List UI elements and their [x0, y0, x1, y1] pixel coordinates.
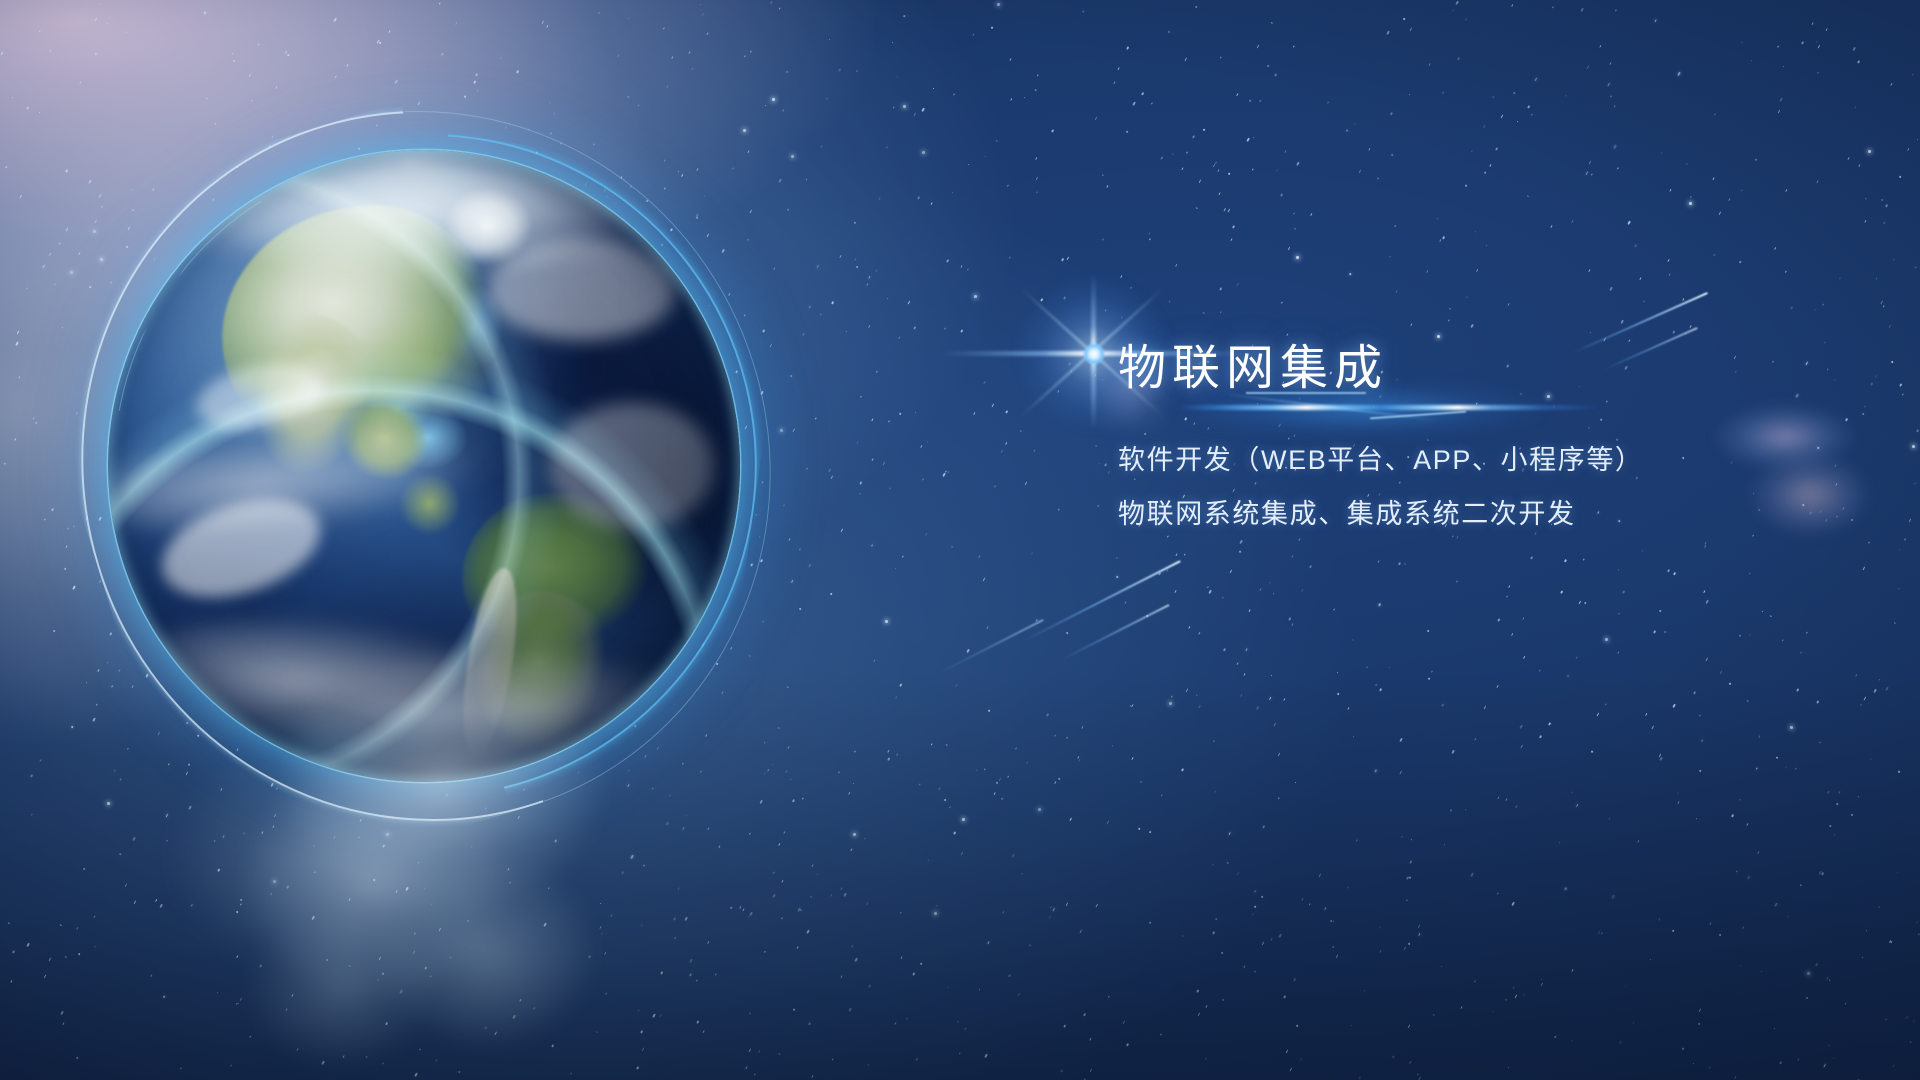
star: [1222, 596, 1224, 599]
star: [1292, 623, 1295, 626]
star: [1037, 74, 1039, 76]
star: [1729, 683, 1731, 685]
star: [830, 476, 833, 480]
star: [1126, 131, 1128, 133]
star: [810, 896, 812, 899]
star-bright: [1169, 702, 1172, 705]
star: [895, 568, 897, 570]
star: [533, 1008, 535, 1011]
star: [1447, 319, 1449, 321]
star: [1215, 161, 1217, 164]
star: [1719, 670, 1722, 674]
star: [1223, 649, 1226, 652]
star: [922, 478, 924, 480]
star: [1025, 482, 1028, 486]
star: [1236, 283, 1239, 287]
star: [1621, 320, 1624, 324]
star: [1794, 767, 1796, 770]
star: [893, 107, 895, 109]
star: [1471, 150, 1473, 152]
star: [1747, 876, 1750, 879]
star: [1852, 47, 1855, 51]
star: [1122, 1021, 1125, 1025]
star: [1641, 548, 1644, 552]
star: [1005, 410, 1008, 413]
star: [65, 227, 68, 231]
star: [10, 980, 12, 983]
star: [1506, 798, 1508, 801]
star: [1827, 977, 1829, 980]
star: [895, 696, 898, 699]
star: [1865, 197, 1867, 200]
star: [1283, 995, 1286, 998]
star: [1815, 41, 1817, 43]
star: [1083, 1013, 1086, 1016]
star: [1890, 83, 1892, 86]
star: [953, 831, 956, 835]
star: [1267, 64, 1269, 67]
star: [570, 1072, 572, 1074]
star: [1035, 177, 1038, 181]
star: [1171, 152, 1173, 154]
star: [944, 327, 946, 329]
star: [1239, 551, 1241, 553]
star: [1591, 751, 1593, 753]
star: [126, 32, 128, 34]
star: [1347, 707, 1349, 710]
star: [630, 855, 633, 859]
star: [1870, 381, 1873, 385]
star-bright: [962, 818, 965, 821]
star: [1617, 168, 1619, 170]
star: [1228, 209, 1231, 213]
star: [1838, 791, 1840, 794]
star: [1825, 28, 1827, 31]
star: [1015, 748, 1017, 750]
star: [968, 163, 969, 165]
star: [1812, 22, 1815, 25]
star: [859, 492, 861, 495]
star: [1571, 969, 1573, 972]
star: [1784, 271, 1786, 274]
star: [1779, 1061, 1782, 1064]
star: [1352, 638, 1354, 640]
star: [900, 911, 902, 914]
star: [1883, 306, 1885, 308]
star: [1842, 507, 1845, 510]
star: [1026, 761, 1028, 764]
star: [1881, 301, 1884, 305]
star: [65, 169, 68, 173]
star: [1261, 941, 1264, 945]
star: [817, 874, 818, 876]
star: [1081, 726, 1083, 729]
star: [1902, 393, 1904, 395]
star: [1427, 630, 1429, 633]
star: [786, 70, 788, 73]
star: [1885, 205, 1888, 208]
star: [1185, 688, 1188, 692]
star: [739, 907, 741, 910]
star: [1248, 99, 1250, 101]
star: [1104, 463, 1107, 466]
star: [1866, 930, 1868, 932]
star: [1284, 149, 1286, 152]
star: [1379, 926, 1381, 928]
star: [1406, 876, 1409, 880]
star: [659, 1014, 662, 1018]
star: [439, 3, 441, 5]
star: [1247, 138, 1250, 142]
star: [1824, 1064, 1827, 1068]
star: [816, 265, 819, 269]
star: [1565, 94, 1567, 97]
star: [1511, 902, 1514, 906]
star: [1431, 670, 1433, 672]
star: [1403, 18, 1406, 21]
star: [790, 779, 792, 781]
star: [1586, 171, 1589, 175]
star: [1271, 938, 1273, 941]
star: [1020, 430, 1022, 432]
star: [96, 53, 98, 55]
star: [1001, 797, 1003, 799]
star: [1203, 312, 1205, 314]
star: [1816, 180, 1819, 184]
star: [1192, 135, 1195, 138]
star: [1116, 575, 1119, 578]
star: [1215, 917, 1217, 920]
star: [1010, 58, 1012, 61]
star: [987, 940, 990, 944]
star: [1580, 8, 1583, 12]
star: [1214, 790, 1216, 793]
star: [1515, 994, 1518, 998]
star: [1036, 620, 1038, 622]
star: [919, 783, 921, 785]
star: [1827, 791, 1829, 794]
star: [1456, 1, 1459, 5]
star: [1696, 818, 1698, 820]
star: [1471, 873, 1474, 877]
star: [1659, 757, 1662, 761]
star: [800, 909, 802, 911]
star: [578, 57, 579, 59]
star: [641, 925, 643, 927]
star: [1672, 704, 1675, 708]
star: [1273, 592, 1275, 594]
star: [782, 109, 784, 112]
star: [1655, 19, 1657, 23]
star: [203, 11, 205, 13]
star: [1066, 903, 1069, 907]
star: [1319, 874, 1322, 878]
star: [1408, 943, 1410, 945]
star: [778, 179, 781, 183]
star: [1364, 989, 1366, 991]
star: [1632, 1021, 1634, 1024]
star: [1554, 1035, 1556, 1038]
star: [1752, 535, 1754, 538]
star: [793, 1008, 795, 1010]
star: [101, 206, 103, 208]
star: [1254, 971, 1256, 974]
star: [1740, 190, 1742, 192]
star: [1896, 871, 1898, 873]
star: [1777, 109, 1780, 113]
star: [1637, 841, 1639, 844]
star: [872, 418, 875, 422]
star: [1283, 698, 1285, 701]
star: [696, 980, 698, 982]
star: [1097, 504, 1100, 507]
star: [94, 220, 97, 224]
star: [1672, 330, 1675, 334]
star: [1824, 342, 1826, 344]
star: [912, 972, 915, 976]
star: [802, 798, 804, 800]
star: [946, 259, 949, 262]
star: [1174, 590, 1176, 593]
star: [778, 1052, 780, 1055]
star: [976, 769, 978, 771]
star: [1228, 173, 1230, 175]
star: [701, 12, 704, 16]
star: [1828, 1044, 1830, 1046]
star: [1442, 91, 1444, 94]
star: [855, 258, 857, 261]
star: [864, 838, 866, 840]
star: [1817, 72, 1819, 75]
star: [39, 759, 41, 762]
star: [1253, 136, 1255, 138]
star: [1589, 161, 1592, 165]
star: [1248, 609, 1250, 612]
star: [1120, 275, 1123, 278]
star: [1649, 959, 1651, 961]
star: [767, 769, 769, 772]
star: [1117, 67, 1119, 70]
star: [957, 1020, 959, 1023]
star: [1728, 198, 1730, 201]
star: [844, 893, 847, 897]
star: [840, 887, 842, 890]
star: [1007, 775, 1009, 778]
star: [688, 51, 690, 54]
star: [26, 943, 29, 947]
star: [49, 253, 52, 256]
star: [1352, 736, 1354, 738]
star: [1181, 167, 1184, 171]
star: [1917, 139, 1919, 141]
star: [1875, 374, 1878, 378]
star: [1116, 557, 1118, 559]
star: [1254, 891, 1256, 893]
star: [1739, 260, 1742, 263]
star: [1486, 245, 1487, 246]
star: [1627, 221, 1630, 225]
star: [1698, 1008, 1701, 1012]
star: [811, 864, 814, 867]
star: [1858, 796, 1860, 798]
star-bright: [1790, 726, 1793, 729]
star: [1739, 799, 1741, 801]
star: [1452, 535, 1454, 537]
star: [1614, 105, 1616, 107]
star: [1207, 586, 1209, 588]
star: [1864, 696, 1867, 700]
star: [1141, 92, 1144, 95]
star: [1390, 113, 1393, 116]
star: [1158, 572, 1161, 575]
star-bright: [1807, 972, 1810, 975]
star: [699, 3, 701, 5]
star: [894, 1022, 896, 1025]
star: [1609, 817, 1612, 821]
star: [1523, 993, 1525, 996]
star: [1474, 980, 1476, 982]
star: [1834, 834, 1836, 836]
star: [906, 1017, 908, 1020]
star: [1409, 28, 1412, 32]
star: [982, 578, 985, 582]
star: [674, 936, 676, 939]
star: [1017, 993, 1020, 997]
star: [707, 827, 710, 830]
star: [1389, 666, 1390, 667]
star: [749, 210, 752, 214]
star: [947, 471, 949, 474]
star: [1820, 741, 1822, 743]
star-bright: [1912, 445, 1915, 448]
star: [806, 178, 808, 180]
star: [1507, 303, 1509, 306]
star: [898, 336, 901, 340]
star: [595, 1031, 597, 1033]
star: [892, 42, 894, 44]
star: [689, 973, 692, 976]
star: [59, 243, 61, 245]
star: [928, 859, 930, 862]
star: [666, 85, 669, 88]
star: [1899, 383, 1902, 387]
star: [1366, 667, 1368, 669]
star: [1540, 982, 1543, 986]
star: [1548, 722, 1551, 725]
star: [788, 746, 790, 749]
star: [1915, 267, 1917, 269]
star: [1863, 567, 1866, 571]
star: [14, 438, 16, 441]
star: [1196, 989, 1199, 993]
star: [42, 265, 45, 269]
star: [828, 39, 829, 40]
star: [1199, 180, 1202, 184]
star: [1805, 997, 1807, 1000]
star: [1705, 599, 1708, 603]
star: [859, 480, 862, 484]
star: [1054, 735, 1056, 737]
star: [26, 287, 28, 289]
star: [718, 845, 721, 849]
star: [853, 782, 855, 784]
star: [902, 15, 905, 18]
star: [1046, 713, 1049, 716]
star: [643, 864, 645, 866]
star: [54, 283, 56, 285]
star: [1790, 306, 1793, 309]
star: [1677, 71, 1680, 75]
headline-text-block: 物联网集成 软件开发（WEB平台、APP、小程序等） 物联网系统集成、集成系统二…: [1118, 341, 1758, 530]
star: [1735, 1076, 1737, 1079]
star: [1054, 781, 1057, 784]
earth-globe: [108, 150, 740, 782]
star: [1358, 1076, 1361, 1079]
star: [781, 880, 783, 883]
star: [1571, 220, 1573, 223]
star: [1701, 739, 1703, 742]
star: [770, 1, 773, 4]
star: [48, 957, 51, 961]
star: [604, 952, 606, 955]
star: [1719, 934, 1721, 937]
star: [887, 750, 889, 753]
star: [830, 894, 832, 897]
star: [1539, 670, 1541, 672]
iot-integration-banner: 物联网集成 软件开发（WEB平台、APP、小程序等） 物联网系统集成、集成系统二…: [0, 0, 1920, 1080]
star: [1007, 184, 1009, 187]
star: [1558, 842, 1560, 844]
star: [5, 165, 8, 168]
star: [1353, 122, 1355, 124]
star: [232, 52, 234, 54]
star: [455, 22, 457, 25]
star: [973, 412, 976, 415]
star: [1377, 178, 1379, 180]
star: [30, 774, 33, 777]
star: [1417, 1073, 1419, 1075]
star: [994, 486, 996, 488]
star: [1785, 189, 1788, 192]
star: [233, 60, 236, 63]
star: [512, 1015, 515, 1019]
star: [1511, 4, 1513, 7]
star: [1898, 548, 1900, 550]
star: [1855, 674, 1857, 677]
star: [1098, 463, 1100, 465]
star: [1205, 1005, 1207, 1008]
star: [1409, 860, 1412, 864]
star: [883, 462, 886, 466]
star: [1833, 379, 1835, 381]
star: [1301, 589, 1303, 592]
star: [669, 794, 671, 797]
star: [778, 843, 780, 846]
star: [1243, 965, 1246, 969]
star: [1497, 893, 1499, 895]
star: [730, 906, 732, 908]
star: [749, 833, 751, 836]
star: [1712, 177, 1715, 181]
star: [1347, 886, 1349, 888]
star: [947, 987, 949, 989]
star-bright: [743, 129, 746, 132]
star: [831, 301, 834, 304]
star-bright: [885, 620, 888, 623]
star: [1571, 1039, 1573, 1042]
star: [1332, 946, 1334, 949]
star: [1146, 615, 1149, 618]
